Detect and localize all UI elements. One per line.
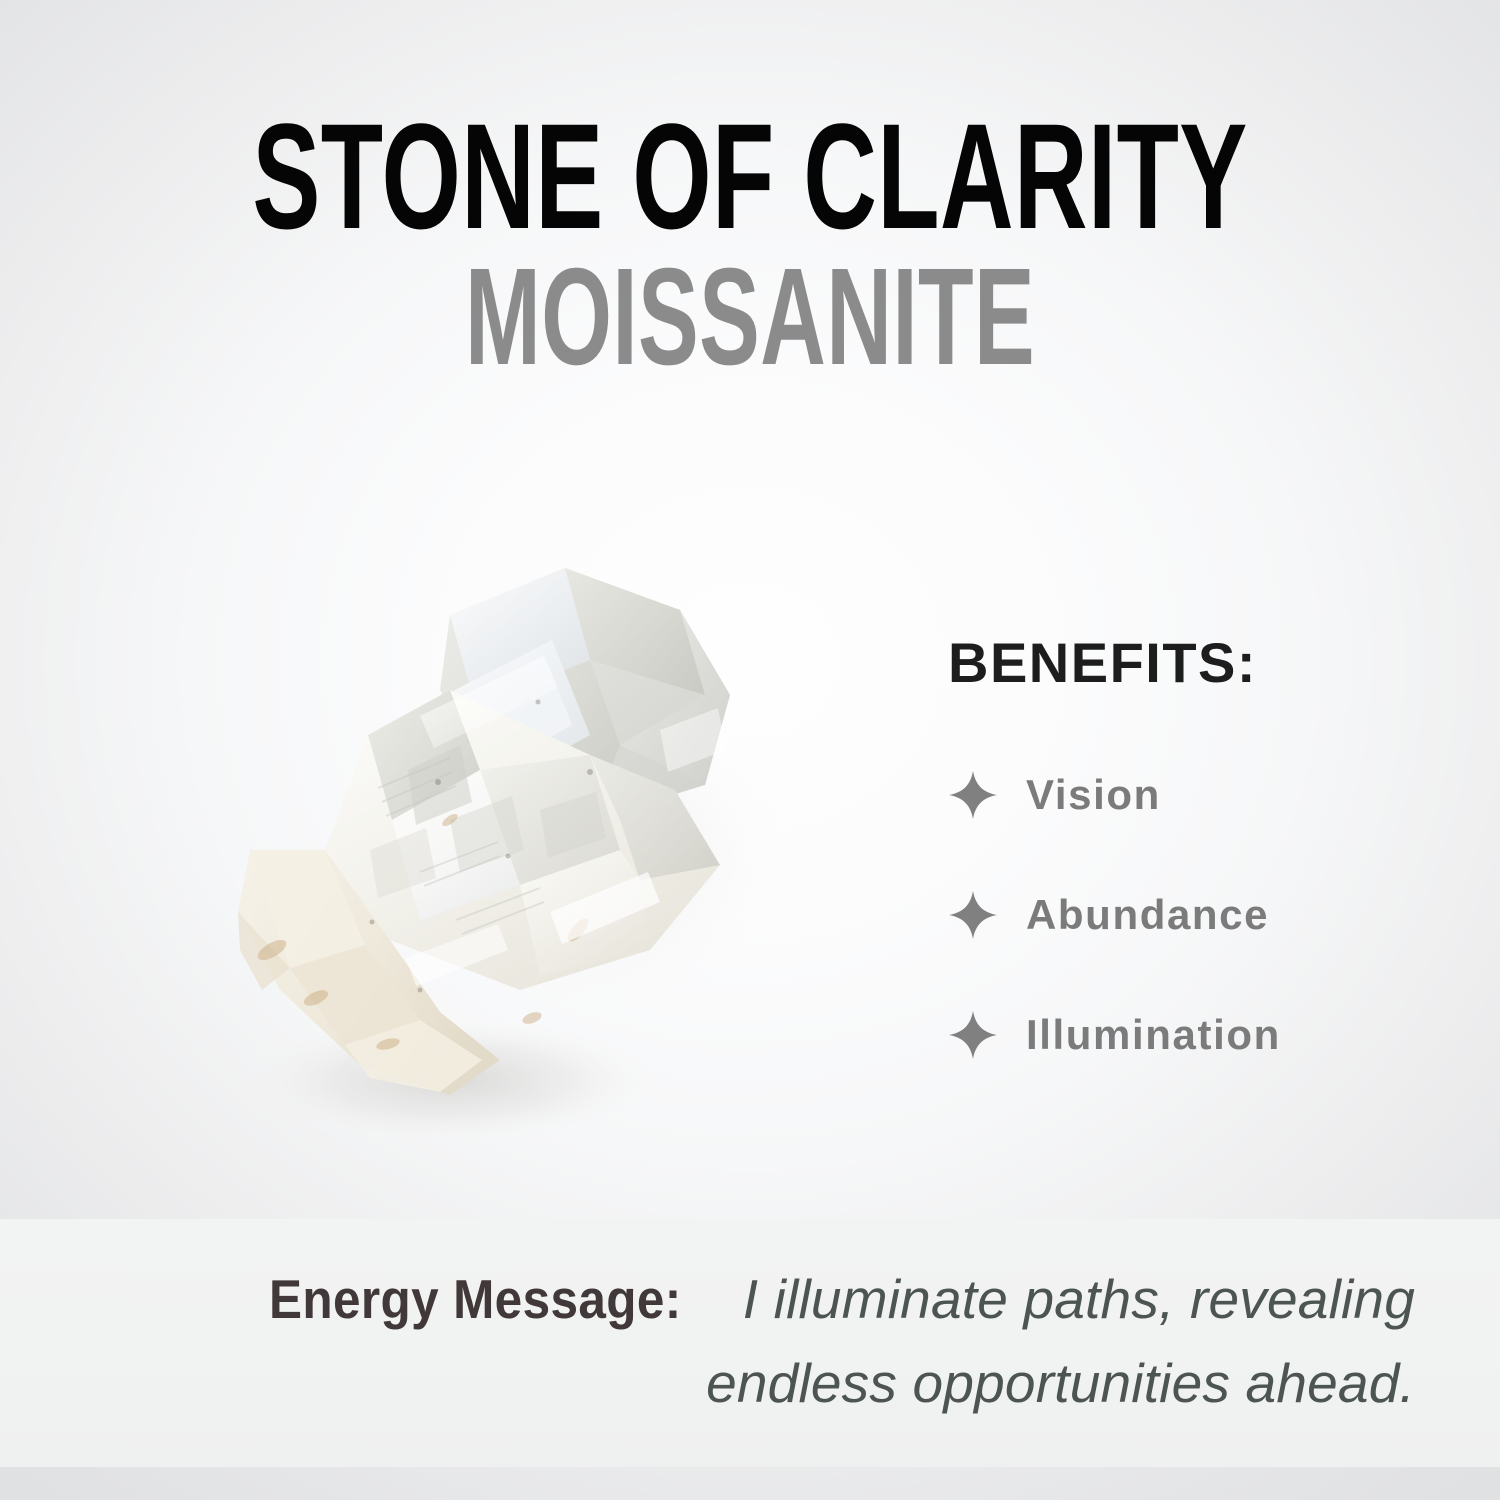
crystal-image xyxy=(120,520,840,1180)
sparkle-icon xyxy=(948,770,998,820)
energy-message-quote: I illuminate paths, revealing endless op… xyxy=(706,1268,1415,1414)
energy-message-text: Energy Message: I illuminate paths, reve… xyxy=(95,1258,1415,1425)
benefits-heading: BENEFITS: xyxy=(948,630,1460,695)
list-item: Illumination xyxy=(948,1011,1460,1059)
list-item: Vision xyxy=(948,771,1460,819)
benefit-label: Illumination xyxy=(1026,1011,1281,1059)
energy-message-label: Energy Message: xyxy=(269,1258,682,1342)
stone-name-subtitle: MOISSANITE xyxy=(255,241,1245,378)
list-item: Abundance xyxy=(948,891,1460,939)
sparkle-icon xyxy=(948,1010,998,1060)
page-title: STONE OF CLARITY xyxy=(240,0,1260,241)
benefit-label: Vision xyxy=(1026,771,1161,819)
stone-info-card: STONE OF CLARITY MOISSANITE xyxy=(0,0,1500,1500)
sparkle-icon xyxy=(948,890,998,940)
benefits-section: BENEFITS: Vision Abundance Illumination xyxy=(900,630,1460,1059)
crystal-illustration xyxy=(120,520,840,1180)
title-block: STONE OF CLARITY MOISSANITE xyxy=(0,0,1500,378)
benefit-label: Abundance xyxy=(1026,891,1269,939)
